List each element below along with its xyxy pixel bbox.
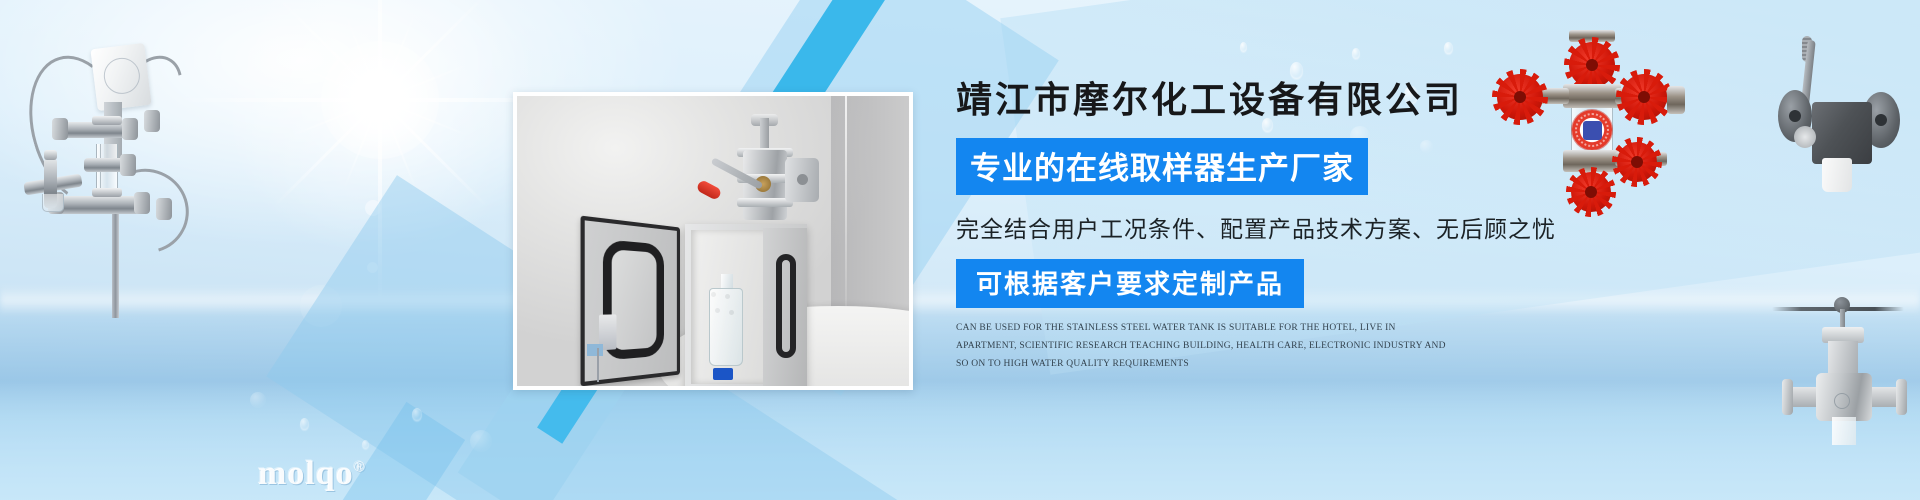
english-description: CAN BE USED FOR THE STAINLESS STEEL WATE… bbox=[956, 320, 1456, 373]
key-tag bbox=[587, 344, 603, 356]
port-flange-right bbox=[1896, 379, 1907, 415]
bubble-icon bbox=[470, 430, 492, 452]
cabinet-handle bbox=[776, 254, 796, 358]
valve-cap bbox=[92, 188, 122, 197]
sub-headline: 完全结合用户工况条件、配置产品技术方案、无后顾之忧 bbox=[956, 210, 1696, 244]
valve-port-right bbox=[1868, 387, 1898, 407]
flange bbox=[122, 118, 138, 140]
left-equipment-illustration bbox=[8, 18, 178, 318]
watermark-text: molqo bbox=[258, 455, 354, 492]
valve-outlet-cup bbox=[1822, 158, 1852, 192]
valve-nameplate bbox=[1834, 393, 1850, 409]
flange bbox=[52, 118, 68, 140]
water-droplet-icon bbox=[362, 440, 369, 449]
transmitter-housing bbox=[90, 43, 151, 111]
cabinet-door bbox=[581, 216, 680, 387]
water-droplet-icon bbox=[300, 418, 309, 430]
flange bbox=[144, 110, 160, 132]
banner-text-block: 靖江市摩尔化工设备有限公司 专业的在线取样器生产厂家 完全结合用户工况条件、配置… bbox=[956, 80, 1696, 373]
headline-highlight: 专业的在线取样器生产厂家 bbox=[956, 138, 1368, 195]
cta-highlight: 可根据客户要求定制产品 bbox=[956, 259, 1304, 308]
valve-nameplate-dial bbox=[1794, 126, 1816, 148]
outlet-tube bbox=[1832, 417, 1856, 445]
registered-mark-icon: ® bbox=[354, 460, 366, 476]
cabinet-side-panel bbox=[763, 228, 807, 386]
water-droplet-icon bbox=[412, 408, 422, 421]
valve-body bbox=[1812, 102, 1872, 164]
port-flange-left bbox=[1782, 379, 1793, 415]
regulator-cap bbox=[44, 150, 57, 160]
water-droplet-icon bbox=[1444, 42, 1453, 54]
sampler-cabinet-body bbox=[685, 224, 807, 390]
flange bbox=[156, 198, 172, 220]
water-droplet-icon bbox=[1290, 62, 1303, 79]
flange bbox=[120, 154, 136, 176]
water-droplet-icon bbox=[1240, 42, 1247, 52]
watermark-logo: molqo® bbox=[258, 455, 366, 493]
valve-neck bbox=[1828, 341, 1858, 377]
sampling-valve-assembly bbox=[713, 114, 817, 230]
product-photo bbox=[513, 92, 913, 390]
gate-valve-illustration bbox=[1780, 265, 1910, 425]
valve-flange bbox=[785, 158, 819, 202]
water-droplet-icon bbox=[1352, 48, 1360, 59]
sample-bottle bbox=[709, 288, 743, 366]
cabinet-interior bbox=[691, 230, 767, 384]
valve-body bbox=[58, 196, 140, 214]
sample-bottle-cap bbox=[713, 368, 733, 380]
promo-banner: 靖江市摩尔化工设备有限公司 专业的在线取样器生产厂家 完全结合用户工况条件、配置… bbox=[0, 0, 1920, 500]
sample-beaker bbox=[42, 194, 64, 212]
company-name: 靖江市摩尔化工设备有限公司 bbox=[956, 80, 1696, 121]
sun-core bbox=[321, 41, 439, 159]
lever-valve-illustration bbox=[1770, 30, 1910, 200]
key-chain bbox=[597, 348, 599, 382]
flange bbox=[134, 192, 150, 214]
bubble-icon bbox=[250, 392, 266, 408]
valve-cap bbox=[92, 116, 122, 125]
